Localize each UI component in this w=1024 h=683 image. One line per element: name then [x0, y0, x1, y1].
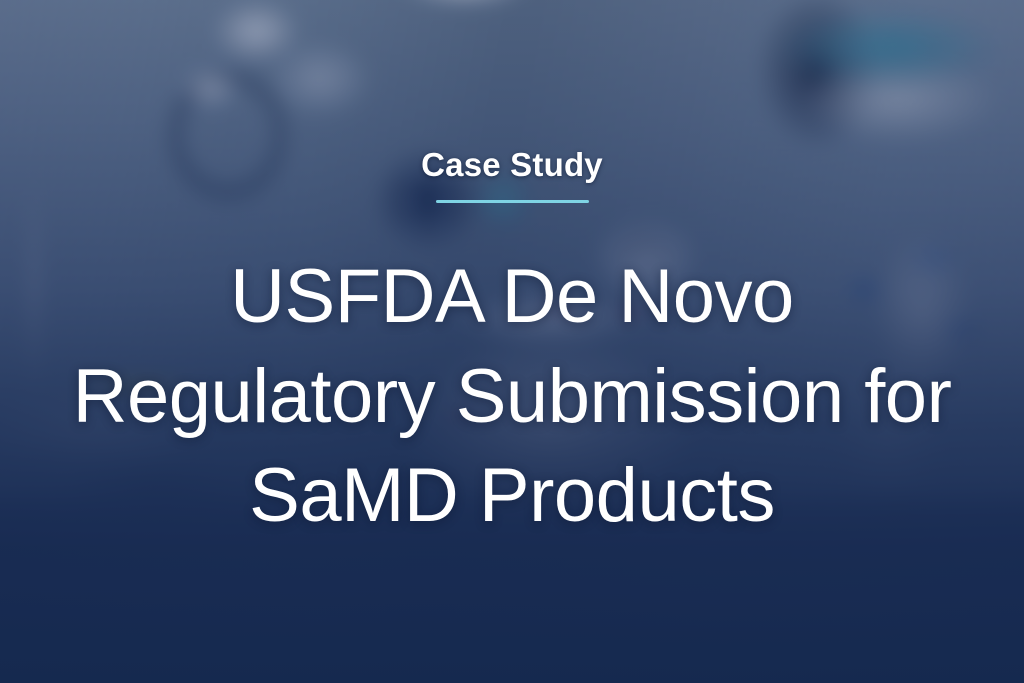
page-title-line-2: Regulatory Submission for	[73, 347, 952, 447]
page-title: USFDA De Novo Regulatory Submission for …	[73, 247, 952, 546]
title-divider-rule	[436, 200, 589, 203]
case-study-hero-banner: Case Study USFDA De Novo Regulatory Subm…	[0, 0, 1024, 683]
hero-content: Case Study USFDA De Novo Regulatory Subm…	[0, 0, 1024, 683]
page-title-line-3: SaMD Products	[73, 446, 952, 546]
page-title-line-1: USFDA De Novo	[73, 247, 952, 347]
case-study-eyebrow-label: Case Study	[421, 148, 603, 181]
